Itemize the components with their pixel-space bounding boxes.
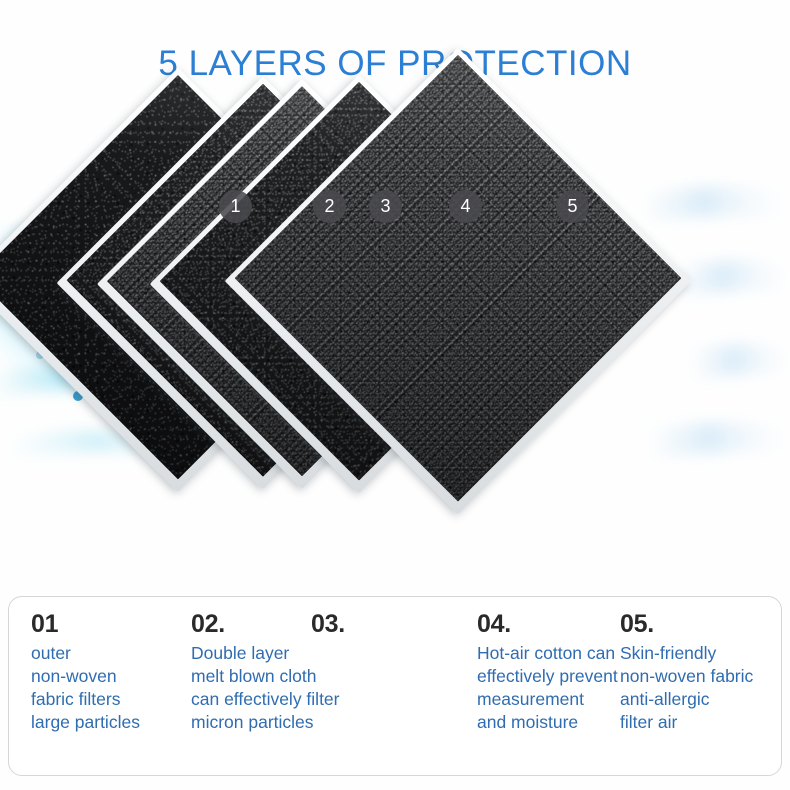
- layer-badge-2: 2: [313, 190, 346, 223]
- layer-badge-1: 1: [219, 190, 252, 223]
- info-item-03: 03.: [311, 611, 391, 642]
- info-desc-05: Skin-friendly non-woven fabric anti-alle…: [620, 642, 790, 735]
- info-desc-02: Double layer melt blown cloth can effect…: [191, 642, 387, 735]
- layer-badge-3: 3: [369, 190, 402, 223]
- info-item-01: 01 outer non-woven fabric filters large …: [31, 611, 183, 735]
- info-number-01: 01: [31, 611, 183, 639]
- layer-badge-4: 4: [449, 190, 482, 223]
- layer-badge-5: 5: [556, 190, 589, 223]
- info-panel: 01 outer non-woven fabric filters large …: [8, 596, 782, 776]
- info-desc-01: outer non-woven fabric filters large par…: [31, 642, 183, 735]
- info-number-03: 03.: [311, 611, 391, 639]
- filter-layer-stack: 1 2 3 4 5: [0, 0, 790, 600]
- info-number-05: 05.: [620, 611, 790, 639]
- infographic-canvas: 5 LAYERS OF PROTECTION: [0, 0, 790, 790]
- info-item-05: 05. Skin-friendly non-woven fabric anti-…: [620, 611, 790, 735]
